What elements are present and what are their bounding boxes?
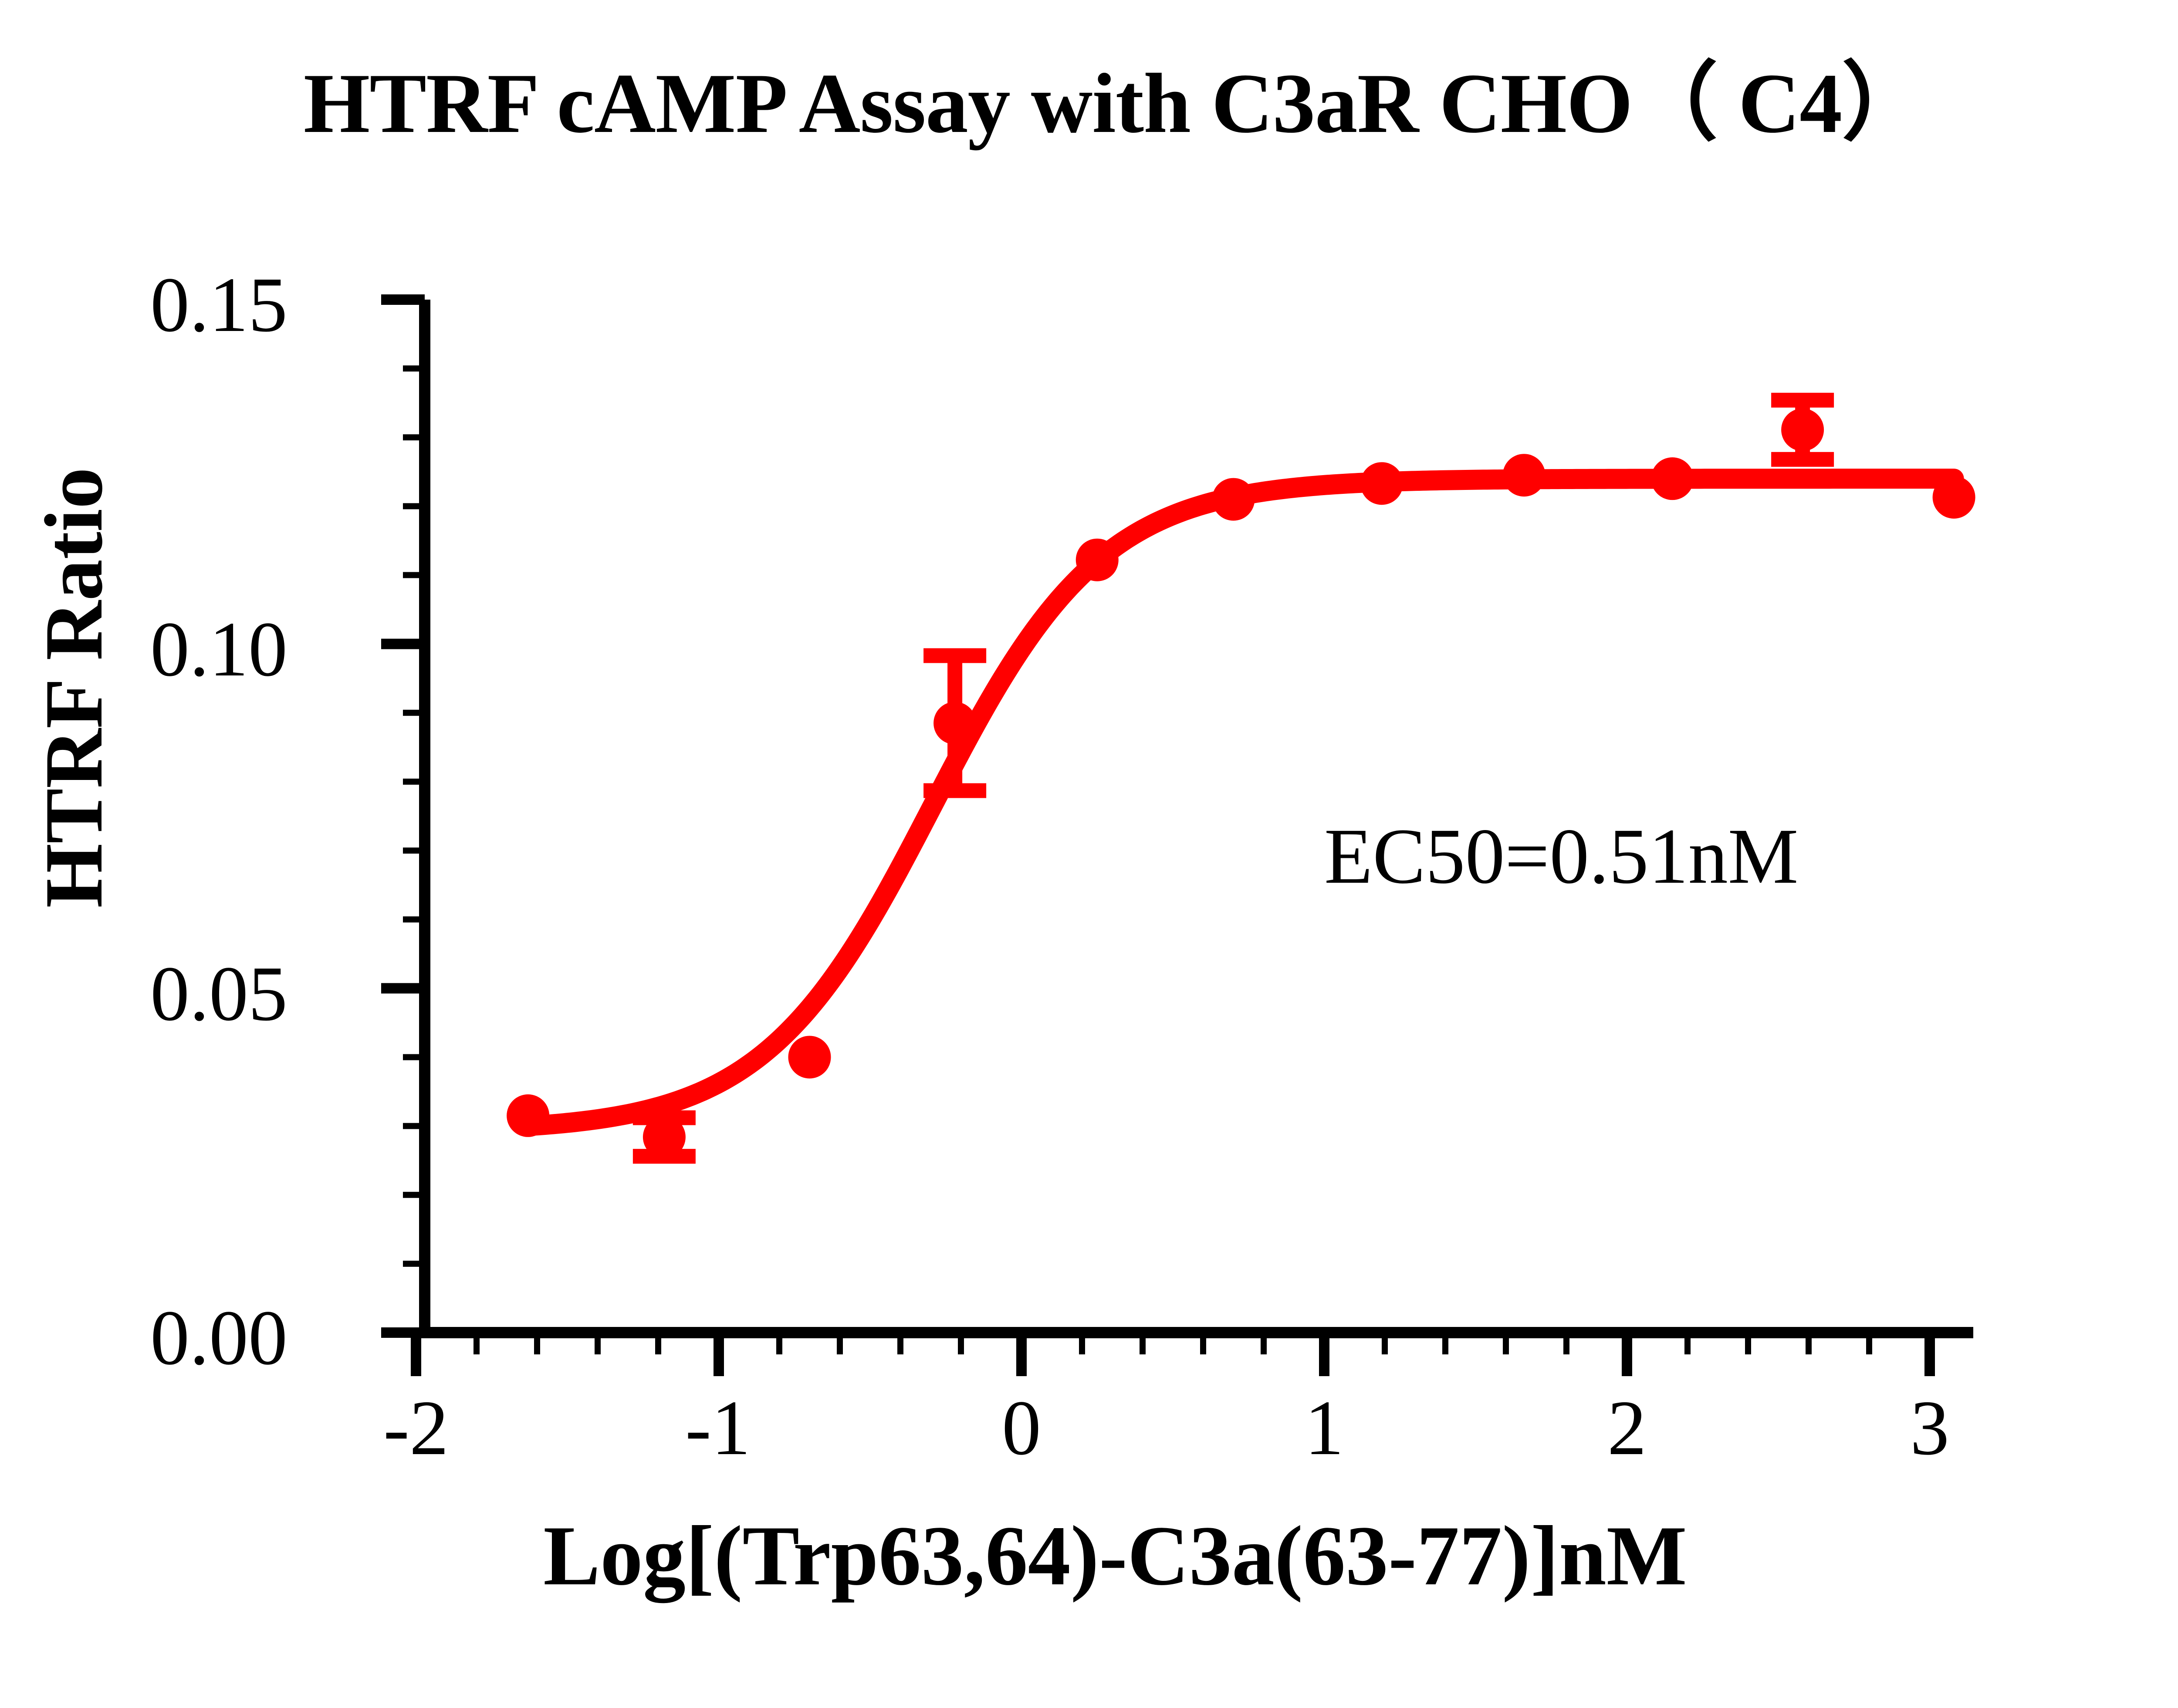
data-point xyxy=(643,1116,686,1158)
fit-curve xyxy=(528,479,1954,1126)
data-point xyxy=(507,1094,549,1137)
y-major-ticks xyxy=(381,300,425,1333)
data-point xyxy=(1651,457,1694,500)
chart-figure: HTRF cAMP Assay with C3aR CHO（ C4） HTRF … xyxy=(0,0,2178,1708)
data-point xyxy=(933,702,976,745)
data-point xyxy=(1360,462,1403,505)
data-markers xyxy=(507,408,1975,1158)
data-point xyxy=(1212,478,1255,521)
data-point xyxy=(788,1036,831,1078)
data-point xyxy=(1933,476,1975,519)
x-major-ticks xyxy=(416,1333,1930,1376)
data-point xyxy=(1781,408,1824,451)
data-point xyxy=(1076,539,1119,581)
plot-canvas xyxy=(0,0,2178,1708)
data-point xyxy=(1503,454,1546,496)
